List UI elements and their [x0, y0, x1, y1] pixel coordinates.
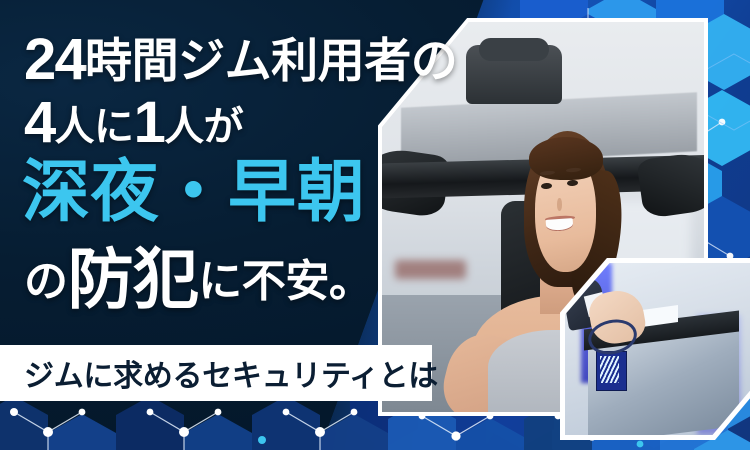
headline-line-3-accent: 深夜・早朝: [22, 158, 365, 226]
headline-line-2-b: 人に: [55, 105, 134, 149]
sub-hexagon-photo: [560, 258, 750, 440]
subtitle-banner: ジムに求めるセキュリティとは: [0, 345, 432, 401]
headline-line-4-c: に不安。: [198, 257, 372, 306]
headline-line-2-a: 4: [24, 90, 55, 155]
promo-banner: 24時間ジム利用者の 4人に1人が 深夜・早朝 の防犯に不安。 ジムに求めるセキ…: [0, 0, 750, 450]
headline-line-2-d: 人が: [164, 105, 243, 149]
headline-line-1: 24時間ジム利用者の: [24, 31, 457, 89]
subtitle-text: ジムに求めるセキュリティとは: [0, 351, 438, 395]
headline-line-4: の防犯に不安。: [24, 246, 373, 312]
headline-line-4-a: の: [24, 257, 68, 306]
headline-line-1-lead: 24: [24, 27, 85, 92]
headline-line-1-rest: 時間ジム利用者の: [85, 34, 457, 87]
headline-line-2-c: 1: [134, 90, 165, 155]
headline-line-4-b: 防犯: [68, 242, 199, 316]
headline-line-2: 4人に1人が: [24, 94, 243, 152]
